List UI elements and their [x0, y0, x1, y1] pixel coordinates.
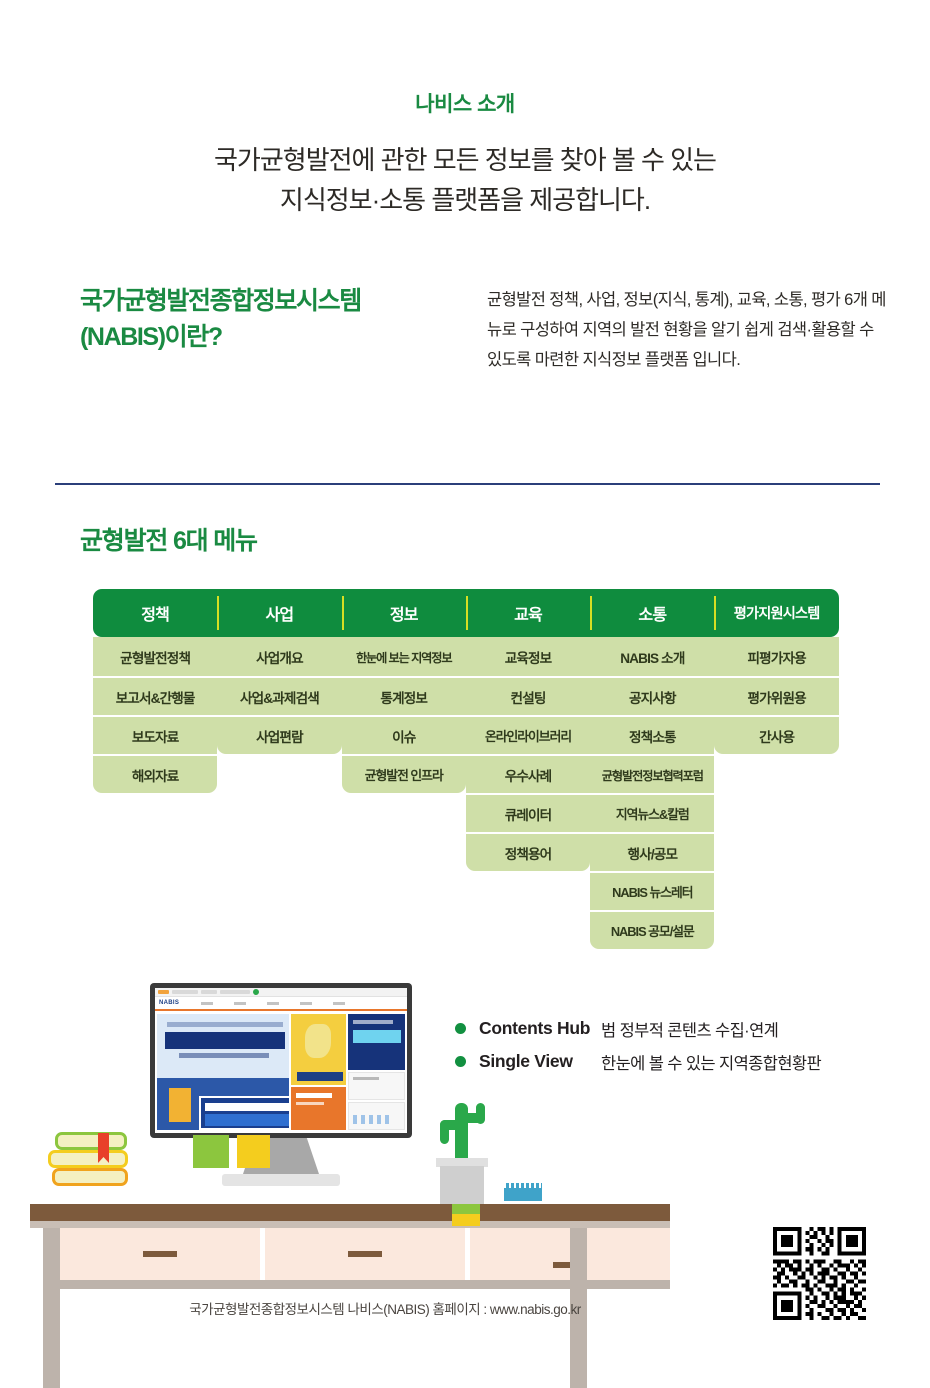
menu-column-items: 교육정보 컨설팅 온라인라이브러리 우수사례 큐레이터 정책용어 — [466, 637, 590, 871]
drawer-handle — [143, 1251, 177, 1257]
page-lead-line2: 지식정보·소통 플랫폼을 제공합니다. — [0, 180, 930, 220]
menu-item[interactable]: 피평가자용 — [714, 637, 838, 676]
menu-item[interactable]: 간사용 — [714, 715, 838, 754]
menu-column-business: 사업 사업개요 사업&과제검색 사업편람 — [217, 589, 341, 949]
widget-card — [348, 1102, 405, 1130]
nav-item — [234, 1002, 246, 1005]
menu-column-policy: 정책 균형발전정책 보고서&간행물 보도자료 해외자료 — [93, 589, 217, 949]
about-heading-line1: 국가균형발전종합정보시스템 — [80, 283, 460, 319]
menu-item[interactable]: 통계정보 — [342, 676, 466, 715]
book-icon — [55, 1132, 127, 1150]
hero-caption — [167, 1022, 283, 1027]
menu-column-information: 정보 한눈에 보는 지역정보 통계정보 이슈 균형발전 인프라 — [342, 589, 466, 949]
hero-promo-band — [199, 1096, 289, 1130]
menu-item[interactable]: 우수사례 — [466, 754, 590, 793]
hero-banner — [157, 1014, 289, 1130]
browser-chip — [253, 989, 259, 995]
menu-item[interactable]: 컨설팅 — [466, 676, 590, 715]
browser-chip — [220, 990, 250, 994]
drawer-handle — [348, 1251, 382, 1257]
section-divider — [55, 483, 880, 485]
menu-item[interactable]: 행사/공모 — [590, 832, 714, 871]
menu-item[interactable]: 균형발전 인프라 — [342, 754, 466, 793]
desk-lip — [30, 1221, 670, 1228]
menu-column-title[interactable]: 평가지원시스템 — [714, 589, 838, 637]
menu-item[interactable]: 교육정보 — [466, 637, 590, 676]
site-logo: NABIS — [159, 1000, 179, 1006]
menu-item[interactable]: 이슈 — [342, 715, 466, 754]
browser-toolbar — [155, 988, 407, 997]
menu-item[interactable]: 사업편람 — [217, 715, 341, 754]
site-nav-items — [201, 1002, 345, 1005]
menu-column-communication: 소통 NABIS 소개 공지사항 정책소통 균형발전정보협력포럼 지역뉴스&칼럼… — [590, 589, 714, 949]
site-right-column — [348, 1014, 405, 1130]
sticky-note-yellow — [237, 1135, 270, 1168]
six-menu-table: 정책 균형발전정책 보고서&간행물 보도자료 해외자료 사업 사업개요 사업&과… — [93, 589, 839, 949]
menu-item[interactable]: 사업개요 — [217, 637, 341, 676]
menu-item[interactable]: NABIS 공모/설문 — [590, 910, 714, 949]
cup-water-line — [504, 1183, 542, 1188]
monitor-icon: NABIS — [150, 983, 412, 1138]
newsletter-card — [291, 1087, 346, 1130]
about-heading: 국가균형발전종합정보시스템 (NABIS)이란? — [80, 283, 460, 355]
menu-column-title[interactable]: 정보 — [342, 589, 466, 637]
menu-item[interactable]: 정책소통 — [590, 715, 714, 754]
cactus-arm-right-up — [476, 1103, 485, 1124]
sticky-note-green — [193, 1135, 229, 1168]
drawer — [265, 1228, 465, 1280]
menu-item[interactable]: 균형발전정책 — [93, 637, 217, 676]
menu-item[interactable]: 해외자료 — [93, 754, 217, 793]
menu-column-title[interactable]: 사업 — [217, 589, 341, 637]
menu-column-items: NABIS 소개 공지사항 정책소통 균형발전정보협력포럼 지역뉴스&칼럼 행사… — [590, 637, 714, 949]
desk-tag-yellow — [452, 1214, 480, 1226]
menu-column-items: 피평가자용 평가위원용 간사용 — [714, 637, 838, 754]
nav-item — [300, 1002, 312, 1005]
menu-item[interactable]: NABIS 뉴스레터 — [590, 871, 714, 910]
about-body: 균형발전 정책, 사업, 정보(지식, 통계), 교육, 소통, 평가 6개 메… — [487, 285, 887, 375]
monitor-stand-base — [222, 1174, 340, 1186]
desk-tag-green — [452, 1204, 480, 1214]
menu-item[interactable]: 지역뉴스&칼럼 — [590, 793, 714, 832]
desk-top — [30, 1204, 670, 1221]
menu-column-title[interactable]: 교육 — [466, 589, 590, 637]
policy-wiki-card — [348, 1014, 405, 1070]
page-title: 나비스 소개 — [0, 88, 930, 118]
footer-note: 국가균형발전종합정보시스템 나비스(NABIS) 홈페이지 : www.nabi… — [0, 1298, 930, 1318]
menu-column-evaluation: 평가지원시스템 피평가자용 평가위원용 간사용 — [714, 589, 838, 949]
menu-column-items: 사업개요 사업&과제검색 사업편람 — [217, 637, 341, 754]
menu-item[interactable]: NABIS 소개 — [590, 637, 714, 676]
cactus-arm-left-up — [440, 1120, 449, 1144]
monitor-screen: NABIS — [155, 988, 407, 1133]
site-navbar: NABIS — [155, 997, 407, 1011]
drawer — [60, 1228, 260, 1280]
browser-chip — [158, 990, 169, 994]
desk-illustration: NABIS — [0, 975, 700, 1388]
page-lead: 국가균형발전에 관한 모든 정보를 찾아 볼 수 있는 지식정보·소통 플랫폼을… — [0, 140, 930, 220]
hero-headline — [165, 1032, 285, 1049]
menu-item[interactable]: 공지사항 — [590, 676, 714, 715]
menu-item[interactable]: 큐레이터 — [466, 793, 590, 832]
browser-chip — [172, 990, 198, 994]
menu-item[interactable]: 평가위원용 — [714, 676, 838, 715]
menu-column-items: 한눈에 보는 지역정보 통계정보 이슈 균형발전 인프라 — [342, 637, 466, 793]
nav-item — [201, 1002, 213, 1005]
menu-section-heading: 균형발전 6대 메뉴 — [80, 521, 257, 557]
menu-item[interactable]: 정책용어 — [466, 832, 590, 871]
site-content — [155, 1011, 407, 1133]
menu-column-education: 교육 교육정보 컨설팅 온라인라이브러리 우수사례 큐레이터 정책용어 — [466, 589, 590, 949]
widget-card — [348, 1072, 405, 1100]
nav-item — [333, 1002, 345, 1005]
menu-column-title[interactable]: 소통 — [590, 589, 714, 637]
menu-item[interactable]: 보고서&간행물 — [93, 676, 217, 715]
menu-item[interactable]: 한눈에 보는 지역정보 — [342, 637, 466, 676]
plant-pot — [440, 1166, 484, 1204]
page-lead-line1: 국가균형발전에 관한 모든 정보를 찾아 볼 수 있는 — [0, 140, 930, 180]
menu-item[interactable]: 균형발전정보협력포럼 — [590, 754, 714, 793]
about-heading-line2: (NABIS)이란? — [80, 319, 460, 355]
cactus-stem — [455, 1103, 468, 1161]
book-icon — [48, 1150, 128, 1168]
menu-item[interactable]: 사업&과제검색 — [217, 676, 341, 715]
menu-item[interactable]: 온라인라이브러리 — [466, 715, 590, 754]
map-card — [291, 1014, 346, 1085]
nav-item — [267, 1002, 279, 1005]
site-mid-column — [291, 1014, 346, 1130]
menu-item[interactable]: 보도자료 — [93, 715, 217, 754]
hero-subtext — [179, 1053, 269, 1058]
menu-column-title[interactable]: 정책 — [93, 589, 217, 637]
book-icon — [52, 1168, 128, 1186]
menu-column-items: 균형발전정책 보고서&간행물 보도자료 해외자료 — [93, 637, 217, 793]
browser-chip — [201, 990, 217, 994]
